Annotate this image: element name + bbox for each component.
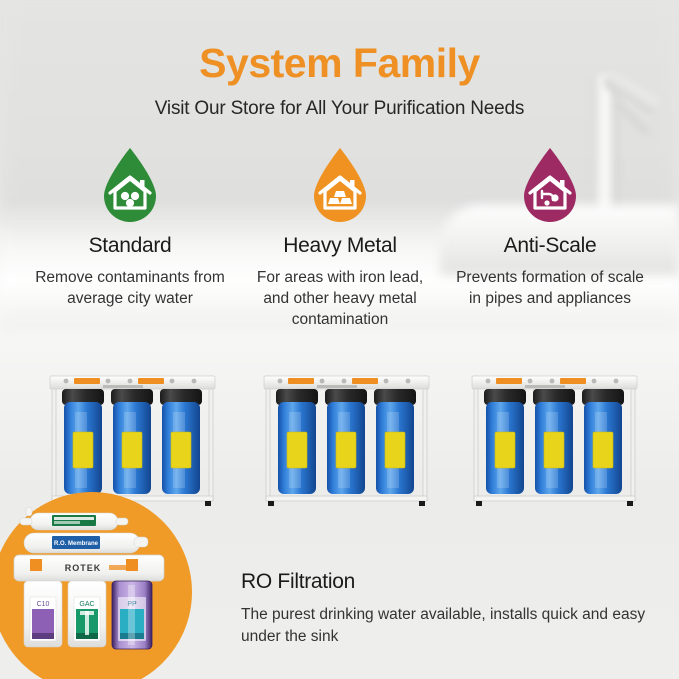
- feature-column-heavy-metal: Heavy Metal For areas with iron lead, an…: [235, 146, 445, 330]
- feature-description-standard: Remove contaminants from average city wa…: [25, 267, 235, 309]
- filter-unit-heavy-metal: [254, 352, 439, 517]
- svg-text:C10: C10: [37, 601, 50, 608]
- ro-section-title: RO Filtration: [241, 570, 355, 594]
- feature-description-heavy-metal: For areas with iron lead, and other heav…: [235, 267, 445, 330]
- svg-text:R.O. Membrane: R.O. Membrane: [54, 541, 99, 547]
- feature-column-standard: Standard Remove contaminants from averag…: [25, 146, 235, 309]
- svg-text:ROTEK: ROTEK: [65, 563, 102, 573]
- ro-section-description: The purest drinking water available, ins…: [241, 604, 651, 648]
- filter-unit-standard: [40, 352, 225, 517]
- page-title: System Family: [0, 40, 679, 87]
- feature-heading-anti-scale: Anti-Scale: [445, 234, 655, 258]
- filter-unit-anti-scale: [462, 352, 647, 517]
- ro-system-image: R.O. Membrane ROTEK C10 GAC: [8, 505, 176, 655]
- feature-description-anti-scale: Prevents formation of scale in pipes and…: [445, 267, 655, 309]
- feature-heading-standard: Standard: [25, 234, 235, 258]
- page-subtitle: Visit Our Store for All Your Purificatio…: [0, 98, 679, 120]
- house-faucet-drop-icon: [520, 146, 580, 224]
- svg-text:GAC: GAC: [79, 601, 94, 608]
- feature-heading-heavy-metal: Heavy Metal: [235, 234, 445, 258]
- infographic-page: System Family Visit Our Store for All Yo…: [0, 0, 679, 679]
- house-filter-drop-icon: [100, 146, 160, 224]
- house-metal-bars-drop-icon: [310, 146, 370, 224]
- feature-column-anti-scale: Anti-Scale Prevents formation of scale i…: [445, 146, 655, 309]
